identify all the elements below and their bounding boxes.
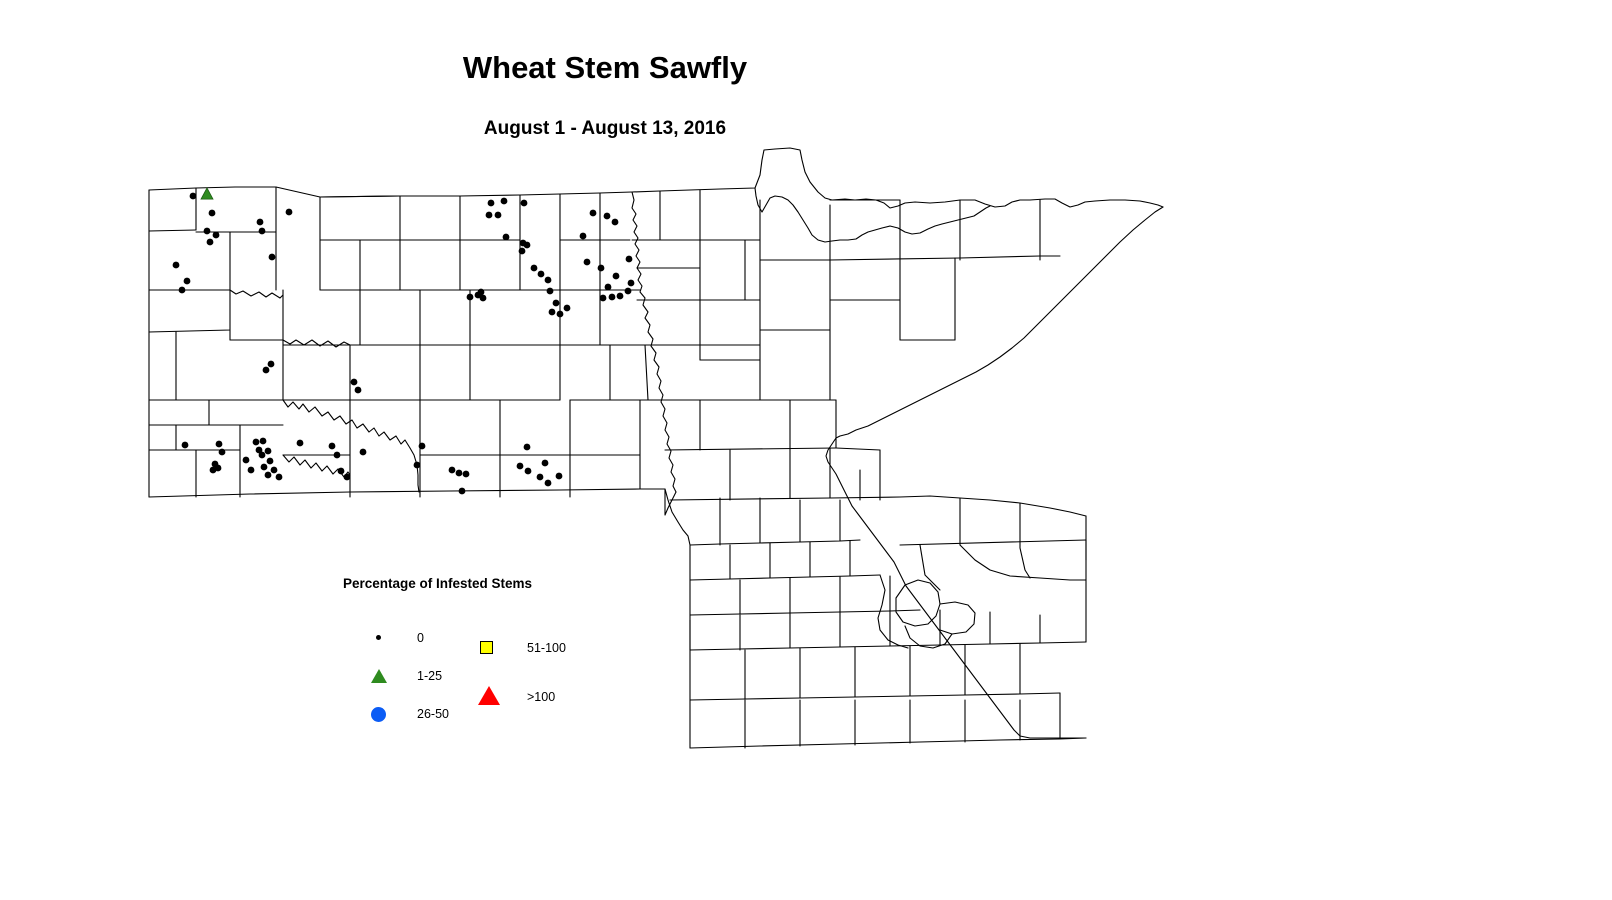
site-black-dot: [419, 443, 426, 450]
site-black-dot: [488, 200, 495, 207]
site-black-dot: [344, 474, 351, 481]
legend: Percentage of Infested Stems 0 1-25 26-5…: [343, 576, 603, 736]
site-black-dot: [173, 262, 180, 269]
site-black-dot: [271, 467, 278, 474]
site-black-dot: [459, 488, 466, 495]
site-black-dot: [628, 280, 635, 287]
site-black-dot: [219, 449, 226, 456]
site-black-dot: [297, 440, 304, 447]
site-black-dot: [517, 463, 524, 470]
site-black-dot: [537, 474, 544, 481]
missouri-river-boundary: [230, 290, 283, 298]
map-outlines: [149, 148, 1163, 748]
black-dot-icon: [367, 628, 393, 648]
site-black-dot: [521, 200, 528, 207]
site-black-dot: [475, 292, 482, 299]
site-black-dot: [519, 248, 526, 255]
site-black-dot: [547, 288, 554, 295]
site-black-dot: [609, 294, 616, 301]
site-black-dot: [268, 361, 275, 368]
site-black-dot: [600, 295, 607, 302]
site-black-dot: [584, 259, 591, 266]
blue-circle-icon: [367, 704, 393, 724]
site-black-dot: [467, 294, 474, 301]
site-black-dot: [216, 441, 223, 448]
site-black-dot: [456, 470, 463, 477]
mn-sd-border: [665, 489, 690, 748]
site-black-dot: [580, 233, 587, 240]
map-page: Wheat Stem Sawfly August 1 - August 13, …: [0, 0, 1612, 900]
site-black-dot: [184, 278, 191, 285]
site-black-dot: [351, 379, 358, 386]
yellow-square-icon: [475, 638, 501, 658]
site-black-dot: [463, 471, 470, 478]
site-black-dot: [598, 265, 605, 272]
site-black-dot: [486, 212, 493, 219]
site-black-dot: [626, 256, 633, 263]
site-black-dot: [204, 228, 211, 235]
site-black-dot: [355, 387, 362, 394]
site-black-dot: [549, 309, 556, 316]
legend-label-2: 26-50: [417, 707, 449, 721]
green-triangle-icon: [367, 666, 393, 686]
site-black-dot: [590, 210, 597, 217]
site-black-dot: [360, 449, 367, 456]
site-black-dot: [531, 265, 538, 272]
site-black-dot: [524, 444, 531, 451]
legend-label-4: >100: [527, 690, 555, 704]
state-county-map[interactable]: [0, 0, 1612, 900]
site-black-dot: [525, 468, 532, 475]
site-black-dot: [557, 311, 564, 318]
site-black-dot: [263, 367, 270, 374]
red-triangle-icon: [475, 684, 501, 704]
site-black-dot: [243, 457, 250, 464]
site-black-dot: [329, 443, 336, 450]
legend-title: Percentage of Infested Stems: [343, 576, 532, 591]
site-black-dot: [182, 442, 189, 449]
site-black-dot: [338, 468, 345, 475]
site-black-dot: [265, 472, 272, 479]
hennepin-ramsey-cluster: [896, 580, 940, 626]
site-black-dot: [248, 467, 255, 474]
site-black-dot: [503, 234, 510, 241]
site-black-dot: [260, 438, 267, 445]
legend-label-1: 1-25: [417, 669, 442, 683]
site-black-dot: [495, 212, 502, 219]
site-black-dot: [545, 480, 552, 487]
site-black-dot: [542, 460, 549, 467]
legend-label-3: 51-100: [527, 641, 566, 655]
site-black-dot: [259, 228, 266, 235]
site-black-dot: [524, 242, 531, 249]
site-black-dot: [501, 198, 508, 205]
lake-of-the-woods-shore: [755, 188, 990, 242]
mn-canada-border: [632, 148, 1163, 208]
site-black-dot: [269, 254, 276, 261]
site-black-dot: [276, 474, 283, 481]
site-black-dot: [257, 219, 264, 226]
site-black-dot: [449, 467, 456, 474]
site-black-dot: [253, 439, 260, 446]
site-black-dot: [213, 232, 220, 239]
site-black-dot: [414, 462, 421, 469]
legend-label-0: 0: [417, 631, 424, 645]
red-river-border: [632, 192, 676, 492]
site-black-dot: [564, 305, 571, 312]
site-black-dot: [210, 467, 217, 474]
missouri-river-nd: [283, 400, 419, 492]
site-black-dot: [538, 271, 545, 278]
nd-south-border: [149, 489, 665, 497]
site-black-dot: [261, 464, 268, 471]
site-black-dot: [553, 300, 560, 307]
site-black-dot: [179, 287, 186, 294]
map-canvas[interactable]: [0, 0, 1612, 900]
site-black-dot: [286, 209, 293, 216]
site-black-dot: [613, 273, 620, 280]
site-black-dot: [265, 448, 272, 455]
site-black-dot: [190, 193, 197, 200]
site-green-triangle: [201, 188, 213, 199]
site-black-dot: [207, 239, 214, 246]
site-black-dot: [625, 288, 632, 295]
site-black-dot: [612, 219, 619, 226]
site-black-dot: [334, 452, 341, 459]
mn-south-border: [690, 738, 1086, 748]
site-black-dot: [605, 284, 612, 291]
site-black-dot: [259, 452, 266, 459]
site-black-dot: [267, 458, 274, 465]
site-black-dot: [556, 473, 563, 480]
site-symbol-layer: [173, 188, 635, 494]
site-black-dot: [604, 213, 611, 220]
site-black-dot: [209, 210, 216, 217]
site-black-dot: [545, 277, 552, 284]
site-black-dot: [617, 293, 624, 300]
lake-superior-shore: [836, 207, 1163, 438]
